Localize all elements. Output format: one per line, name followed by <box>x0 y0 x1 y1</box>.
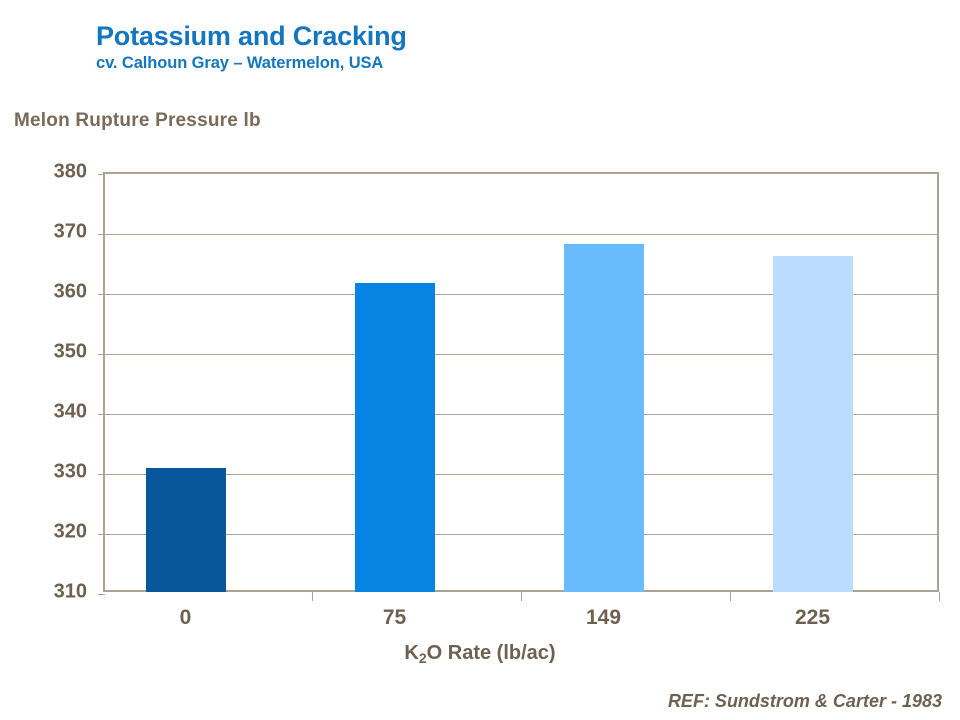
y-tick-label: 360 <box>17 281 87 304</box>
x-axis-title: K2O Rate (lb/ac) <box>0 642 960 665</box>
x-tick-mark <box>312 592 313 601</box>
y-tick-mark <box>98 594 105 595</box>
y-tick-label: 370 <box>17 221 87 244</box>
x-axis-title-suffix: O Rate (lb/ac) <box>427 642 556 664</box>
y-tick-label: 340 <box>17 401 87 424</box>
bars-layer <box>103 172 939 592</box>
y-tick-label: 380 <box>17 161 87 184</box>
bar-149[interactable] <box>564 244 644 592</box>
bar-0[interactable] <box>146 468 226 592</box>
x-tick-label: 149 <box>524 606 684 630</box>
x-tick-label: 0 <box>106 606 266 630</box>
bar-225[interactable] <box>773 256 853 592</box>
x-axis-title-subscript: 2 <box>419 650 427 666</box>
x-tick-label: 75 <box>315 606 475 630</box>
x-tick-mark <box>939 592 940 601</box>
bar-75[interactable] <box>355 283 435 592</box>
reference-note: REF: Sundstrom & Carter - 1983 <box>668 691 942 712</box>
y-tick-label: 310 <box>17 581 87 604</box>
y-tick-label: 350 <box>17 341 87 364</box>
y-tick-label: 320 <box>17 521 87 544</box>
x-axis-title-prefix: K <box>404 642 418 664</box>
chart-plot: 380370360350340330320310075149225 <box>0 0 960 720</box>
x-tick-mark <box>521 592 522 601</box>
x-tick-mark <box>730 592 731 601</box>
x-tick-label: 225 <box>733 606 893 630</box>
y-tick-label: 330 <box>17 461 87 484</box>
